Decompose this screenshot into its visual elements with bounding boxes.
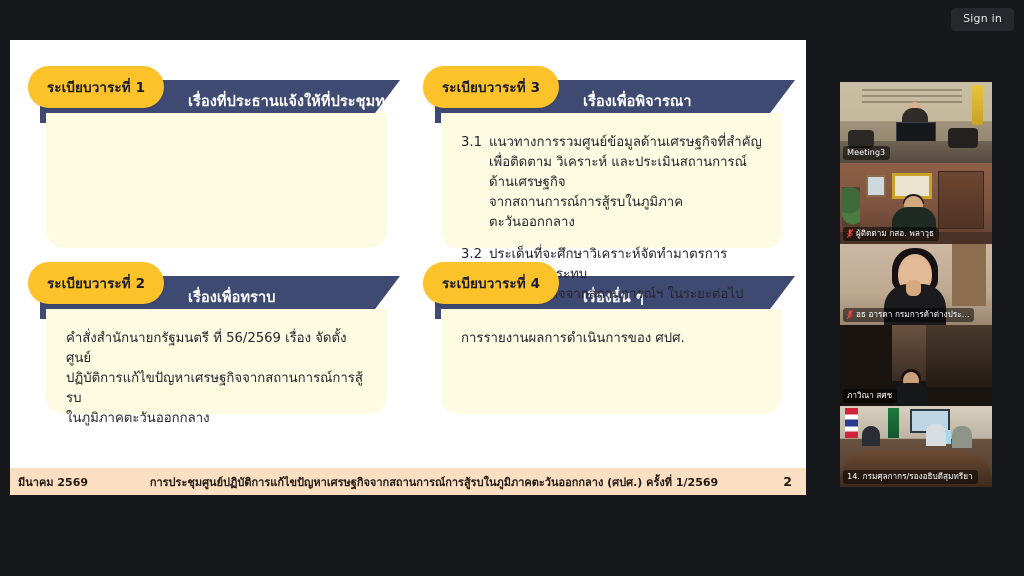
participant-name-4: ภาวิณา สศช [843,389,897,403]
agenda-pill-2: ระเบียบวาระที่ 2 [28,262,164,304]
participant-name-1: Meeting3 [843,146,890,160]
footer-page-number: 2 [746,474,806,489]
agenda-panel-2: คำสั่งสำนักนายกรัฐมนตรี ที่ 56/2569 เรื่… [46,309,387,414]
meeting-screen-share-view: Sign in เรื่องที่ประธานแจ้งให้ที่ประชุมท… [0,0,1024,576]
agenda-pill-3: ระเบียบวาระที่ 3 [423,66,559,108]
participant-tile-2[interactable]: ผู้ติดตาม กสอ. พลาวุธ [840,163,992,244]
footer-title: การประชุมศูนย์ปฏิบัติการแก้ไขปัญหาเศรษฐก… [122,473,746,491]
muted-mic-icon [847,229,853,238]
participant-label-3: อธ อารดา กรมการค้าต่างประ... [856,309,969,320]
participant-label-5: 14. กรมศุลกากร/รองอธิบดีสุมทรียา [847,471,973,482]
participant-tile-4-active-speaker[interactable]: ภาวิณา สศช [840,325,992,406]
participant-label-2: ผู้ติดตาม กสอ. พลาวุธ [856,228,934,239]
agenda-body-4: การรายงานผลการดำเนินการของ ศปศ. [461,329,766,349]
participant-label-1: Meeting3 [847,147,885,158]
participant-name-5: 14. กรมศุลกากร/รองอธิบดีสุมทรียา [843,470,978,484]
agenda-pill-1: ระเบียบวาระที่ 1 [28,66,164,108]
slide-footer: มีนาคม 2569 การประชุมศูนย์ปฏิบัติการแก้ไ… [10,468,806,495]
agenda-block-2: คำสั่งสำนักนายกรัฐมนตรี ที่ 56/2569 เรื่… [22,254,399,414]
agenda-panel-3: 3.1 แนวทางการรวมศูนย์ข้อมูลด้านเศรษฐกิจท… [441,113,782,248]
agenda-pill-4: ระเบียบวาระที่ 4 [423,262,559,304]
agenda-title-3: เรื่องเพื่อพิจารณา [583,90,692,113]
agenda-grid: เรื่องที่ประธานแจ้งให้ที่ประชุมทราบ ระเบ… [22,58,794,414]
slide-content-area: เรื่องที่ประธานแจ้งให้ที่ประชุมทราบ ระเบ… [10,40,806,468]
participant-video-rail: Meeting3 ผู้ติดตาม กสอ. พลาวุธ [840,82,992,487]
participant-name-2: ผู้ติดตาม กสอ. พลาวุธ [843,227,939,241]
presentation-slide[interactable]: เรื่องที่ประธานแจ้งให้ที่ประชุมทราบ ระเบ… [10,40,806,495]
agenda-title-2: เรื่องเพื่อทราบ [188,286,276,309]
participant-tile-1[interactable]: Meeting3 [840,82,992,163]
footer-date: มีนาคม 2569 [10,473,122,491]
agenda-pill-label-2: ระเบียบวาระที่ 2 [47,272,145,294]
participant-name-3: อธ อารดา กรมการค้าต่างประ... [843,308,974,322]
participant-tile-3[interactable]: อธ อารดา กรมการค้าต่างประ... [840,244,992,325]
participant-label-4: ภาวิณา สศช [847,390,892,401]
agenda-item-3-1: 3.1 แนวทางการรวมศูนย์ข้อมูลด้านเศรษฐกิจท… [461,133,766,233]
agenda-block-1: เรื่องที่ประธานแจ้งให้ที่ประชุมทราบ ระเบ… [22,58,399,248]
participant-tile-5[interactable]: 14. กรมศุลกากร/รองอธิบดีสุมทรียา [840,406,992,487]
agenda-body-2: คำสั่งสำนักนายกรัฐมนตรี ที่ 56/2569 เรื่… [66,329,371,429]
agenda-title-1: เรื่องที่ประธานแจ้งให้ที่ประชุมทราบ [188,90,410,113]
muted-mic-icon [847,310,853,319]
agenda-item-number-3-1: 3.1 [461,133,489,233]
agenda-item-text-3-1: แนวทางการรวมศูนย์ข้อมูลด้านเศรษฐกิจที่สำ… [489,133,766,233]
agenda-pill-label-1: ระเบียบวาระที่ 1 [47,76,145,98]
sign-in-button[interactable]: Sign in [951,8,1014,31]
agenda-pill-label-3: ระเบียบวาระที่ 3 [442,76,540,98]
agenda-block-3: 3.1 แนวทางการรวมศูนย์ข้อมูลด้านเศรษฐกิจท… [417,58,794,248]
agenda-panel-4: การรายงานผลการดำเนินการของ ศปศ. [441,309,782,414]
top-bar: Sign in [0,0,1024,30]
agenda-pill-label-4: ระเบียบวาระที่ 4 [442,272,540,294]
agenda-panel-1 [46,113,387,248]
